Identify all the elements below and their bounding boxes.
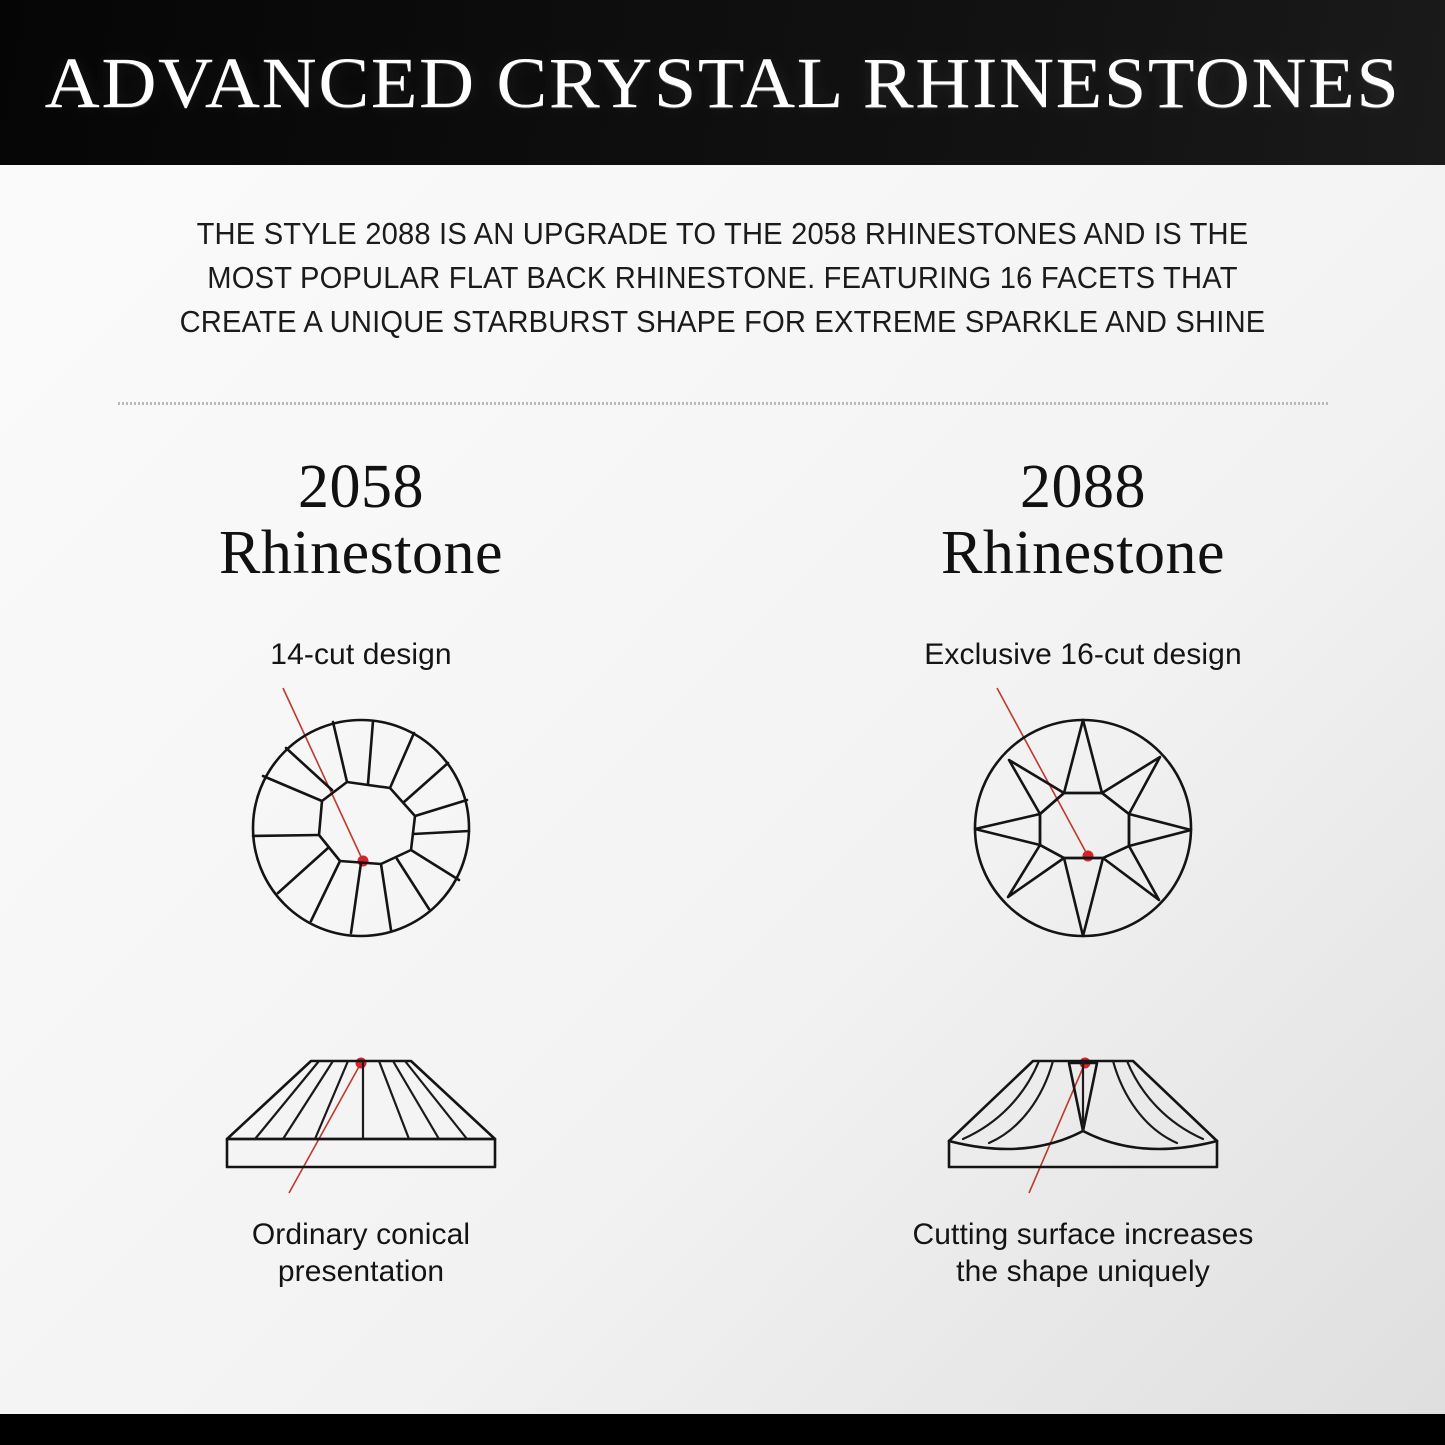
header-banner: ADVANCED CRYSTAL RHINESTONES xyxy=(0,0,1445,165)
column-2088-title: 2088 Rhinestone xyxy=(941,455,1225,586)
starburst-profile-icon xyxy=(933,1045,1233,1195)
leader-line xyxy=(1029,1063,1085,1193)
column-2058-side-view xyxy=(211,1045,511,1200)
leader-line xyxy=(289,1063,361,1193)
column-2058-top-view xyxy=(201,678,521,983)
radial-facet-circle-icon xyxy=(201,678,521,978)
column-2058-title: 2058 Rhinestone xyxy=(219,455,503,586)
column-2088-top-view xyxy=(923,678,1243,983)
column-2058: 2058 Rhinestone 14-cut design xyxy=(0,455,722,1290)
column-2058-cut-label: 14-cut design xyxy=(270,638,451,672)
starburst-facet-circle-icon xyxy=(923,678,1243,978)
column-2058-caption-line-2: presentation xyxy=(252,1253,470,1290)
column-2088-caption-line-1: Cutting surface increases xyxy=(913,1216,1254,1253)
column-2088: 2088 Rhinestone Exclusive 16-cut design xyxy=(722,455,1444,1290)
column-2088-number: 2088 xyxy=(941,455,1225,521)
page-title: ADVANCED CRYSTAL RHINESTONES xyxy=(45,47,1401,119)
column-2088-caption: Cutting surface increases the shape uniq… xyxy=(913,1216,1254,1290)
column-2058-number: 2058 xyxy=(219,455,503,521)
leader-line xyxy=(997,688,1088,856)
leader-dot xyxy=(356,1058,367,1069)
column-2088-cut-label: Exclusive 16-cut design xyxy=(924,638,1241,672)
intro-line-3: CREATE A UNIQUE STARBURST SHAPE FOR EXTR… xyxy=(138,300,1308,344)
column-2088-side-view xyxy=(933,1045,1233,1200)
column-2088-word: Rhinestone xyxy=(941,521,1225,587)
leader-dot xyxy=(1083,851,1094,862)
section-divider xyxy=(118,402,1330,405)
infographic-page: ADVANCED CRYSTAL RHINESTONES THE STYLE 2… xyxy=(0,0,1445,1445)
comparison-columns: 2058 Rhinestone 14-cut design xyxy=(0,455,1445,1290)
intro-paragraph: THE STYLE 2088 IS AN UPGRADE TO THE 2058… xyxy=(0,212,1445,344)
intro-line-2: MOST POPULAR FLAT BACK RHINESTONE. FEATU… xyxy=(138,256,1308,300)
conical-profile-icon xyxy=(211,1045,511,1195)
intro-line-1: THE STYLE 2088 IS AN UPGRADE TO THE 2058… xyxy=(138,212,1308,256)
leader-dot xyxy=(358,856,369,867)
column-2058-word: Rhinestone xyxy=(219,521,503,587)
column-2058-caption: Ordinary conical presentation xyxy=(252,1216,470,1290)
column-2058-caption-line-1: Ordinary conical xyxy=(252,1216,470,1253)
footer-bar xyxy=(0,1414,1445,1445)
column-2088-caption-line-2: the shape uniquely xyxy=(913,1253,1254,1290)
